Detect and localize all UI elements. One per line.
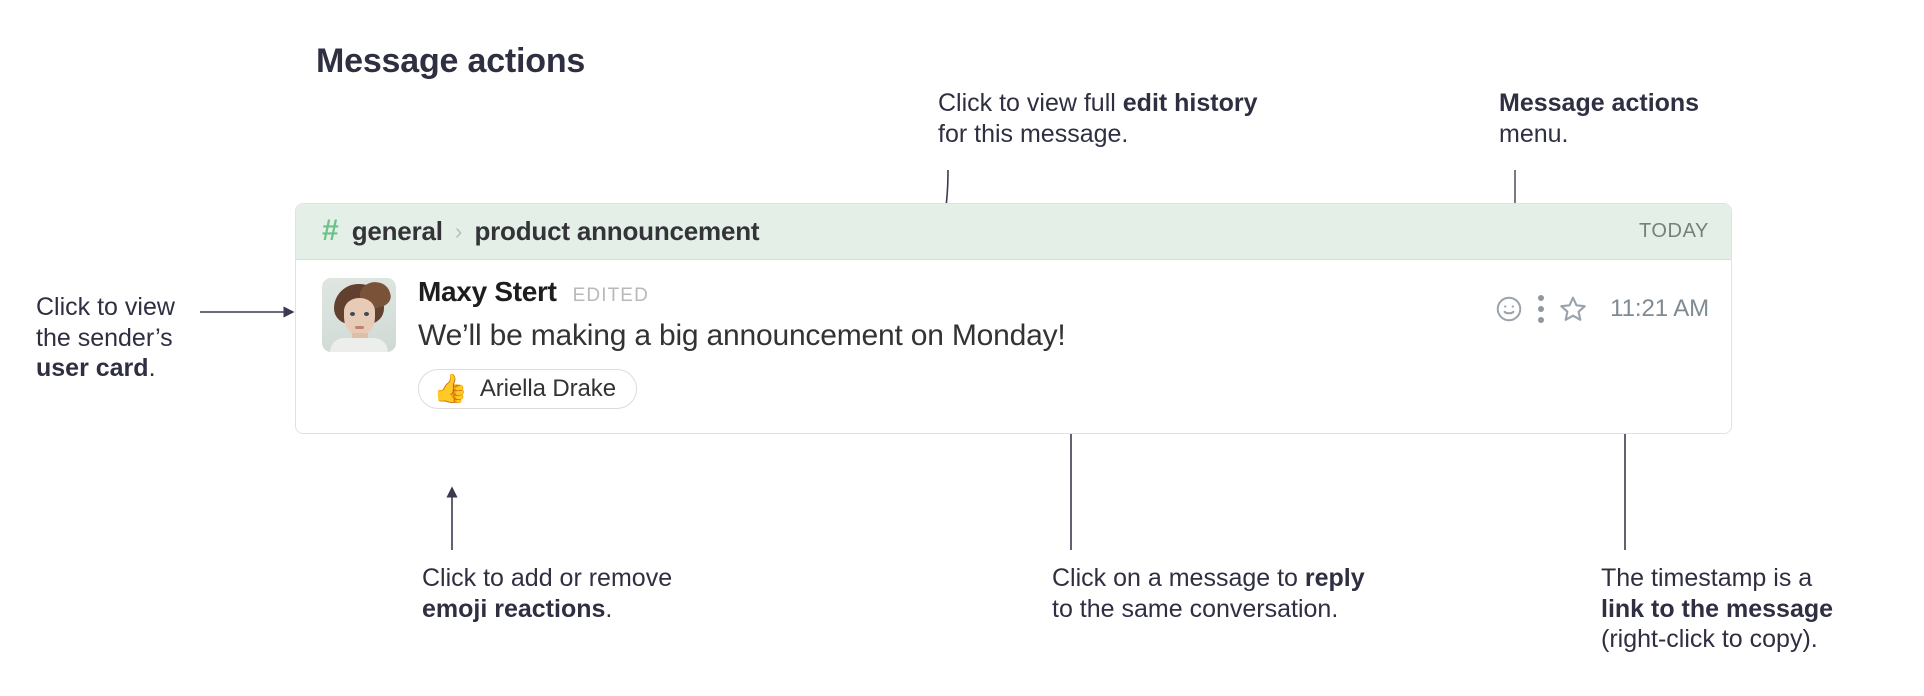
message-body[interactable]: Maxy Stert EDITED We’ll be making a big … [296, 260, 1731, 433]
date-label: TODAY [1639, 220, 1709, 243]
annotation-edit-history-prefix: Click to view full [938, 89, 1123, 117]
avatar[interactable] [322, 278, 396, 352]
annotation-actions-menu-suffix: menu. [1499, 120, 1568, 148]
message-actions-menu-icon[interactable] [1528, 290, 1554, 328]
stream-name[interactable]: general [352, 216, 443, 247]
avatar-mouth [355, 326, 364, 329]
message-card: # general › product announcement TODAY M… [295, 203, 1732, 434]
edited-label[interactable]: EDITED [573, 285, 649, 307]
annotation-emoji-reactions: Click to add or remove emoji reactions. [422, 563, 672, 624]
reaction-row: 👍 Ariella Drake [418, 369, 1709, 409]
message-timestamp-link[interactable]: 11:21 AM [1610, 295, 1709, 323]
message-actions: 11:21 AM [1490, 290, 1709, 328]
stream-topic-header[interactable]: # general › product announcement TODAY [296, 204, 1731, 260]
annotation-actions-menu-bold: Message actions [1499, 89, 1699, 117]
topic-name[interactable]: product announcement [474, 216, 759, 247]
annotation-reply-prefix: Click on a message to [1052, 564, 1305, 592]
annotation-timestamp-bold: link to the message [1601, 595, 1833, 623]
star-icon[interactable] [1554, 290, 1592, 328]
annotation-timestamp-suffix: (right-click to copy). [1601, 625, 1818, 653]
chevron-right-icon: › [455, 218, 463, 245]
hash-icon: # [322, 216, 339, 246]
annotation-user-card-bold: user card [36, 354, 149, 382]
page-title: Message actions [316, 42, 585, 81]
annotation-user-card-suffix: . [149, 354, 156, 382]
annotation-reply-suffix: to the same conversation. [1052, 595, 1338, 623]
sender-name[interactable]: Maxy Stert [418, 276, 557, 308]
avatar-eye-right [364, 312, 369, 316]
annotation-edit-history-bold: edit history [1123, 89, 1258, 117]
annotation-reply-bold: reply [1305, 564, 1365, 592]
thumbs-up-icon: 👍 [433, 375, 468, 403]
avatar-face [344, 298, 375, 336]
annotation-emoji-prefix: Click to add or remove [422, 564, 672, 592]
emoji-reaction-pill[interactable]: 👍 Ariella Drake [418, 369, 637, 409]
annotation-timestamp-link: The timestamp is a link to the message (… [1601, 563, 1833, 655]
annotation-actions-menu: Message actions menu. [1499, 88, 1699, 149]
annotation-edit-history-suffix: for this message. [938, 120, 1128, 148]
dot-middle [1538, 306, 1544, 312]
annotation-user-card-prefix: Click to view the sender’s [36, 293, 175, 352]
annotation-timestamp-prefix: The timestamp is a [1601, 564, 1812, 592]
dot-bottom [1538, 317, 1544, 323]
annotation-emoji-bold: emoji reactions [422, 595, 605, 623]
reaction-user-label: Ariella Drake [480, 375, 616, 403]
annotation-user-card: Click to view the sender’s user card. [36, 292, 175, 384]
avatar-eye-left [350, 312, 355, 316]
dot-top [1538, 295, 1544, 301]
annotation-emoji-suffix: . [605, 595, 612, 623]
annotation-reply: Click on a message to reply to the same … [1052, 563, 1365, 624]
avatar-shirt [330, 338, 388, 352]
add-reaction-smiley-icon[interactable] [1490, 290, 1528, 328]
annotation-edit-history: Click to view full edit history for this… [938, 88, 1258, 149]
